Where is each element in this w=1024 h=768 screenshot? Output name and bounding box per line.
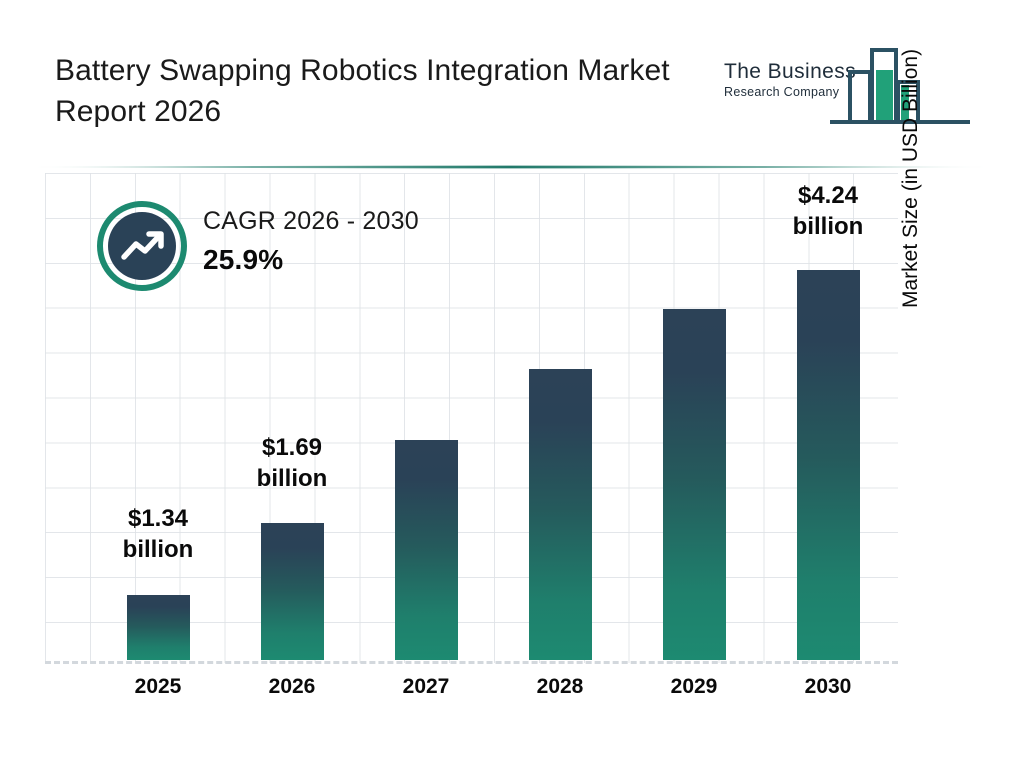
bar-2026[interactable] xyxy=(261,523,324,660)
x-tick-2027: 2027 xyxy=(366,675,486,699)
x-tick-2030: 2030 xyxy=(768,675,888,699)
y-axis-label: Market Size (in USD Billion) xyxy=(899,0,923,308)
bar-value-label-2026: $1.69 billion xyxy=(217,432,367,494)
bar-value-2030: $4.24 xyxy=(753,180,903,211)
market-report-chart-page: Battery Swapping Robotics Integration Ma… xyxy=(0,0,1024,768)
bar-value-2025: $1.34 xyxy=(83,503,233,534)
bar-value-label-2030: $4.24 billion xyxy=(753,180,903,242)
x-tick-2028: 2028 xyxy=(500,675,620,699)
bar-2029[interactable] xyxy=(663,309,726,660)
cagr-text-block: CAGR 2026 - 2030 25.9% xyxy=(203,207,419,276)
bar-2030[interactable] xyxy=(797,270,860,660)
x-axis-baseline xyxy=(45,661,898,664)
bar-chart: $1.34 billion $1.69 billion $4.24 billio… xyxy=(0,163,1024,768)
bar-2028[interactable] xyxy=(529,369,592,660)
cagr-callout: CAGR 2026 - 2030 25.9% xyxy=(97,201,497,291)
bar-2025[interactable] xyxy=(127,595,190,660)
report-header: Battery Swapping Robotics Integration Ma… xyxy=(0,0,1024,150)
bar-value-label-2025: $1.34 billion xyxy=(83,503,233,565)
company-logo: The Business Research Company xyxy=(724,40,974,130)
bar-unit-2030: billion xyxy=(753,211,903,242)
bar-unit-2026: billion xyxy=(217,463,367,494)
x-tick-2026: 2026 xyxy=(232,675,352,699)
cagr-badge xyxy=(97,201,187,291)
bar-value-2026: $1.69 xyxy=(217,432,367,463)
bar-unit-2025: billion xyxy=(83,534,233,565)
x-tick-2029: 2029 xyxy=(634,675,754,699)
cagr-period-label: CAGR 2026 - 2030 xyxy=(203,207,419,236)
bar-2027[interactable] xyxy=(395,440,458,660)
page-title: Battery Swapping Robotics Integration Ma… xyxy=(55,50,715,133)
cagr-value: 25.9% xyxy=(203,244,419,276)
x-tick-2025: 2025 xyxy=(98,675,218,699)
